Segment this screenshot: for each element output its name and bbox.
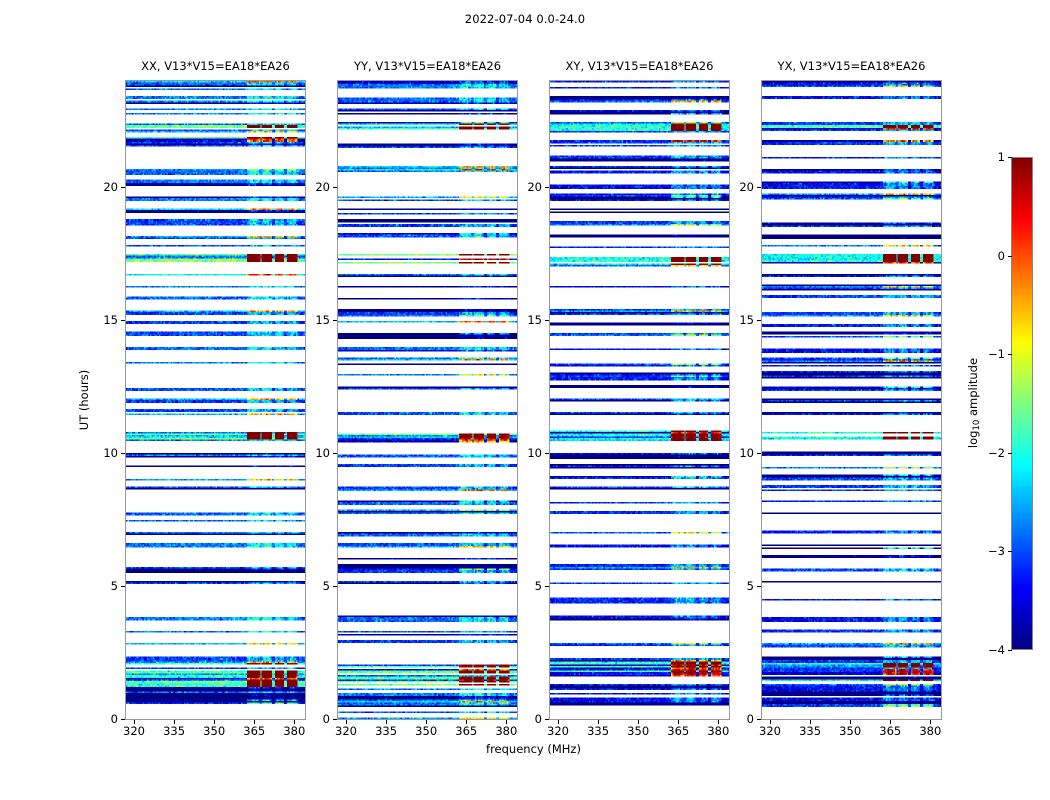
y-axis-label: UT (hours) (77, 370, 91, 430)
y-tick-label: 5 (111, 579, 118, 593)
x-tick-label: 335 (799, 724, 821, 742)
x-axis-label: frequency (MHz) (125, 742, 942, 756)
colorbar-tick-label: −1 (988, 347, 1005, 361)
y-tick-mark (333, 586, 337, 587)
x-tick-label: 365 (455, 724, 477, 742)
waterfall-panel-xy[interactable] (549, 80, 730, 720)
y-tick-mark (545, 187, 549, 188)
y-tick-label: 10 (103, 446, 118, 460)
colorbar-tick-mark (1008, 157, 1012, 158)
y-tick-label: 15 (739, 313, 754, 327)
y-tick-mark (121, 586, 125, 587)
y-tick-label: 0 (323, 712, 330, 726)
y-tick-mark (121, 719, 125, 720)
panel-title-yx: YX, V13*V15=EA18*EA26 (761, 59, 942, 75)
y-tick-label: 15 (103, 313, 118, 327)
y-tick-mark (333, 320, 337, 321)
y-tick-label: 10 (527, 446, 542, 460)
waterfall-image (126, 81, 305, 719)
y-tick-mark (545, 586, 549, 587)
x-tick-label: 320 (123, 724, 145, 742)
y-tick-mark (757, 719, 761, 720)
y-tick-label: 0 (747, 712, 754, 726)
y-tick-label: 5 (535, 579, 542, 593)
waterfall-image (762, 81, 941, 719)
x-tick-label: 320 (759, 724, 781, 742)
x-tick-label: 365 (879, 724, 901, 742)
panel-title-xy: XY, V13*V15=EA18*EA26 (549, 59, 730, 75)
colorbar-label-prefix: log (966, 431, 980, 449)
colorbar-tick-label: 0 (998, 249, 1005, 263)
y-tick-mark (333, 453, 337, 454)
y-tick-label: 20 (527, 180, 542, 194)
x-tick-label: 380 (283, 724, 305, 742)
colorbar[interactable] (1011, 157, 1033, 650)
colorbar-tick-mark (1008, 453, 1012, 454)
y-tick-mark (757, 586, 761, 587)
x-tick-label: 350 (627, 724, 649, 742)
y-tick-mark (121, 320, 125, 321)
x-tick-label: 335 (587, 724, 609, 742)
waterfall-image (550, 81, 729, 719)
x-tick-label: 320 (335, 724, 357, 742)
colorbar-label: log10 amplitude (966, 358, 982, 448)
figure-suptitle: 2022-07-04 0.0-24.0 (0, 12, 1050, 26)
y-tick-label: 15 (315, 313, 330, 327)
y-tick-label: 10 (315, 446, 330, 460)
y-tick-label: 20 (103, 180, 118, 194)
x-tick-label: 380 (919, 724, 941, 742)
y-tick-label: 0 (111, 712, 118, 726)
colorbar-tick-mark (1008, 256, 1012, 257)
x-tick-label: 380 (495, 724, 517, 742)
waterfall-panel-xx[interactable] (125, 80, 306, 720)
colorbar-tick-label: 1 (998, 150, 1005, 164)
y-tick-label: 20 (315, 180, 330, 194)
x-tick-label: 335 (163, 724, 185, 742)
panel-title-xx: XX, V13*V15=EA18*EA26 (125, 59, 306, 75)
x-tick-label: 365 (667, 724, 689, 742)
x-tick-label: 350 (839, 724, 861, 742)
y-tick-label: 0 (535, 712, 542, 726)
y-tick-mark (545, 719, 549, 720)
y-tick-mark (757, 187, 761, 188)
y-tick-label: 10 (739, 446, 754, 460)
colorbar-tick-label: −4 (988, 643, 1005, 657)
colorbar-tick-label: −3 (988, 544, 1005, 558)
colorbar-tick-mark (1008, 551, 1012, 552)
figure-canvas: 2022-07-04 0.0-24.0 XX, V13*V15=EA18*EA2… (0, 0, 1050, 800)
y-tick-mark (545, 320, 549, 321)
y-tick-label: 20 (739, 180, 754, 194)
waterfall-panel-yx[interactable] (761, 80, 942, 720)
colorbar-tick-label: −2 (988, 446, 1005, 460)
panel-title-yy: YY, V13*V15=EA18*EA26 (337, 59, 518, 75)
x-tick-label: 320 (547, 724, 569, 742)
waterfall-image (338, 81, 517, 719)
y-tick-label: 5 (323, 579, 330, 593)
y-tick-mark (545, 453, 549, 454)
y-tick-label: 5 (747, 579, 754, 593)
x-tick-label: 350 (415, 724, 437, 742)
y-tick-mark (757, 453, 761, 454)
x-tick-label: 335 (375, 724, 397, 742)
colorbar-tick-mark (1008, 650, 1012, 651)
x-tick-label: 380 (707, 724, 729, 742)
y-tick-mark (333, 187, 337, 188)
y-tick-mark (757, 320, 761, 321)
colorbar-label-subscript: 10 (972, 420, 982, 431)
colorbar-tick-mark (1008, 354, 1012, 355)
x-tick-label: 350 (203, 724, 225, 742)
y-tick-label: 15 (527, 313, 542, 327)
y-tick-mark (333, 719, 337, 720)
y-tick-mark (121, 187, 125, 188)
y-tick-mark (121, 453, 125, 454)
waterfall-panel-yy[interactable] (337, 80, 518, 720)
colorbar-label-suffix: amplitude (966, 358, 980, 420)
x-tick-label: 365 (243, 724, 265, 742)
